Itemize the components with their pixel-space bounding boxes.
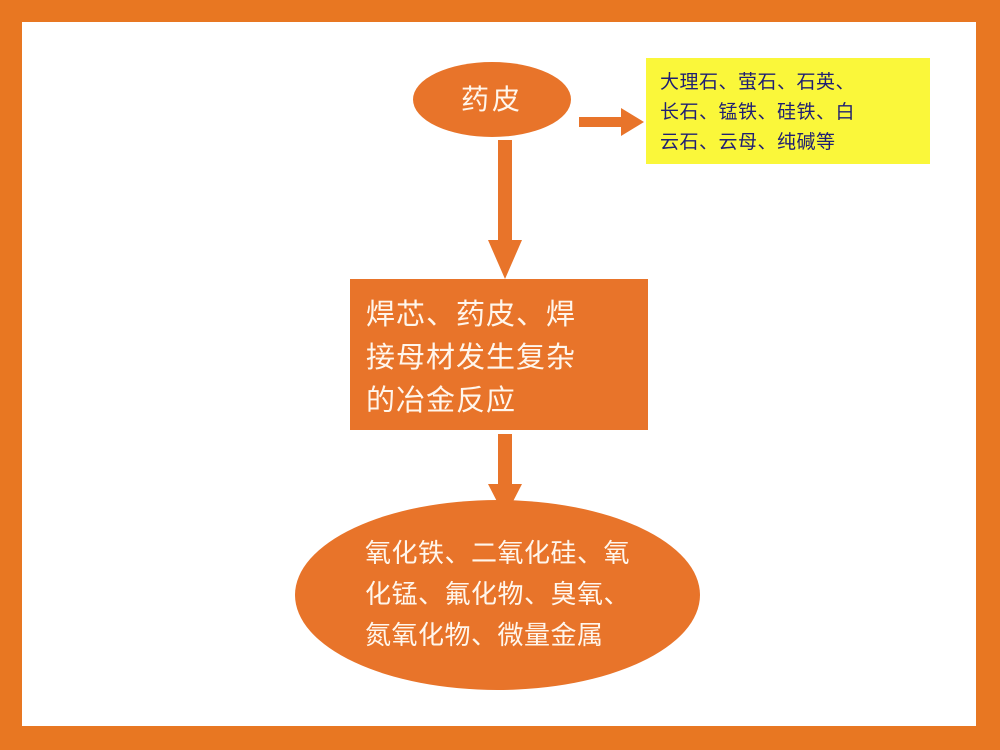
arrow-right-icon bbox=[578, 103, 646, 141]
note-box-materials[interactable]: 大理石、萤石、石英、 长石、锰铁、硅铁、白 云石、云母、纯碱等 bbox=[646, 58, 930, 164]
arrow-down-icon-1 bbox=[484, 140, 526, 282]
node-result-ellipse[interactable]: 氧化铁、二氧化硅、氧 化锰、氟化物、臭氧、 氮氧化物、微量金属 bbox=[295, 500, 700, 690]
slide-canvas: 药皮 大理石、萤石、石英、 长石、锰铁、硅铁、白 云石、云母、纯碱等 焊芯、药皮… bbox=[0, 0, 1000, 750]
node-result-text: 氧化铁、二氧化硅、氧 化锰、氟化物、臭氧、 氮氧化物、微量金属 bbox=[365, 534, 630, 657]
node-source-ellipse[interactable]: 药皮 bbox=[413, 62, 571, 137]
node-source-label: 药皮 bbox=[461, 86, 523, 114]
node-process-text: 焊芯、药皮、焊 接母材发生复杂 的冶金反应 bbox=[366, 293, 648, 422]
slide-content-area: 药皮 大理石、萤石、石英、 长石、锰铁、硅铁、白 云石、云母、纯碱等 焊芯、药皮… bbox=[22, 22, 976, 726]
node-process-rectangle[interactable]: 焊芯、药皮、焊 接母材发生复杂 的冶金反应 bbox=[350, 279, 648, 430]
note-box-text: 大理石、萤石、石英、 长石、锰铁、硅铁、白 云石、云母、纯碱等 bbox=[660, 67, 919, 157]
